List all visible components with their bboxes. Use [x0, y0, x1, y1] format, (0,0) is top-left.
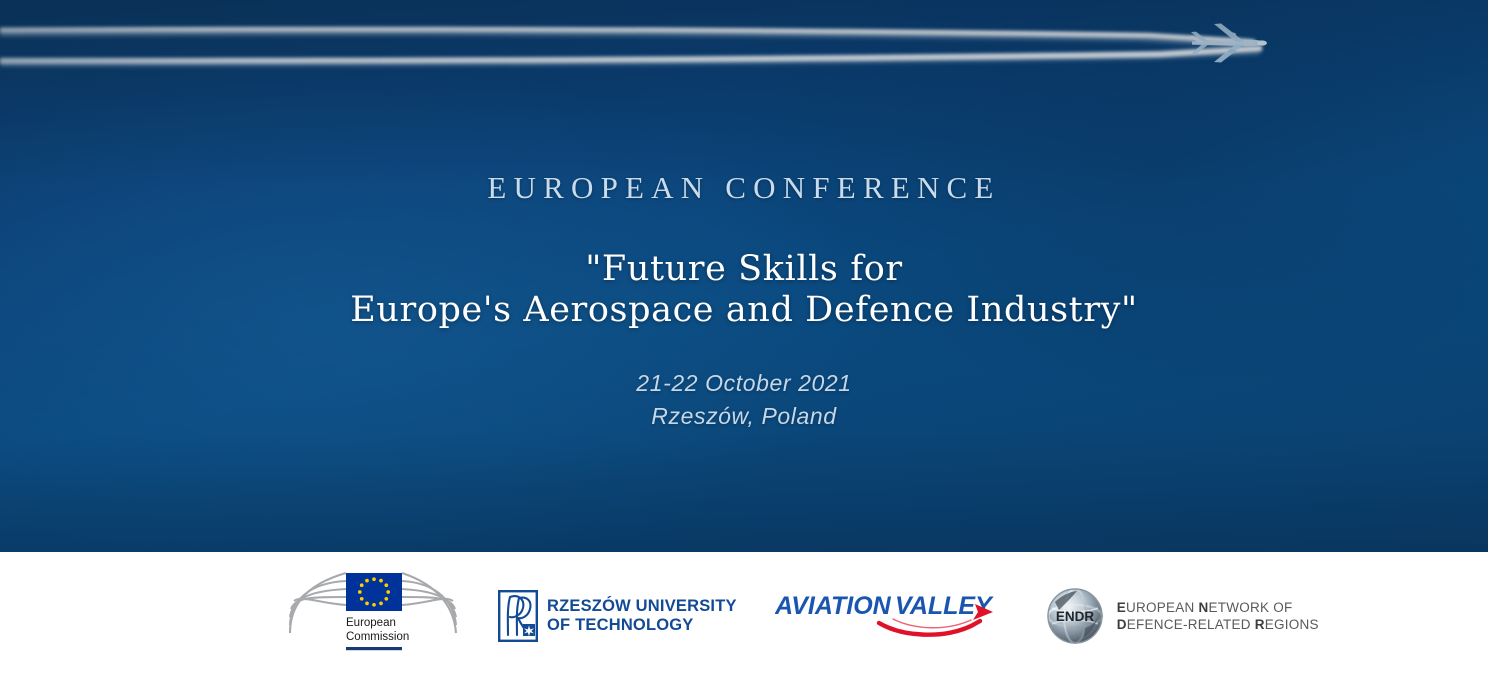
- ec-swoosh-left: [290, 573, 346, 633]
- endr-acronym: ENDR: [1056, 609, 1095, 624]
- conference-poster: EUROPEAN CONFERENCE "Future Skills for E…: [0, 0, 1488, 680]
- rut-label-line-1: RZESZÓW UNIVERSITY: [547, 597, 737, 615]
- rut-label-line-2: OF TECHNOLOGY: [547, 616, 694, 634]
- endr-wordmark: EUROPEAN NETWORK OF DEFENCE-RELATED REGI…: [1117, 599, 1319, 633]
- conference-date: 21-22 October 2021: [636, 367, 851, 400]
- conference-title: "Future Skills for Europe's Aerospace an…: [350, 249, 1138, 331]
- sponsor-logo-bar: European Commission: [0, 552, 1488, 680]
- logo-european-network-of-defence-related-regions[interactable]: ENDR EUROPEAN NETWORK OF DEFENCE-RELATED…: [1043, 552, 1319, 680]
- av-word-aviation: AVIATION: [775, 592, 892, 620]
- ec-underline-bar: [346, 647, 402, 650]
- ec-label-line-2: Commission: [346, 631, 409, 643]
- endr-label-line-1: EUROPEAN NETWORK OF: [1117, 600, 1293, 615]
- logo-rzeszow-university-of-technology[interactable]: RZESZÓW UNIVERSITY OF TECHNOLOGY: [498, 552, 737, 680]
- conference-meta: 21-22 October 2021 Rzeszów, Poland: [636, 367, 851, 433]
- endr-globe-icon: ENDR: [1043, 584, 1107, 648]
- hero-text-block: EUROPEAN CONFERENCE "Future Skills for E…: [0, 0, 1488, 552]
- rut-star-icon: [523, 624, 535, 636]
- sky-background: EUROPEAN CONFERENCE "Future Skills for E…: [0, 0, 1488, 552]
- conference-eyebrow: EUROPEAN CONFERENCE: [487, 170, 1000, 206]
- ec-label-line-1: European: [346, 617, 396, 629]
- rut-wordmark: RZESZÓW UNIVERSITY OF TECHNOLOGY: [547, 597, 737, 635]
- logo-aviation-valley[interactable]: AVIATION VALLEY: [775, 586, 1003, 646]
- endr-label-line-2: DEFENCE-RELATED REGIONS: [1117, 617, 1319, 632]
- conference-title-line-1: "Future Skills for: [350, 249, 1138, 290]
- conference-title-line-2: Europe's Aerospace and Defence Industry": [350, 290, 1138, 331]
- eu-flag-icon: [346, 573, 402, 611]
- ec-swoosh-right: [402, 573, 456, 633]
- logo-european-commission[interactable]: European Commission: [288, 561, 460, 671]
- conference-location: Rzeszów, Poland: [636, 400, 851, 433]
- rut-monogram-icon: [498, 590, 538, 642]
